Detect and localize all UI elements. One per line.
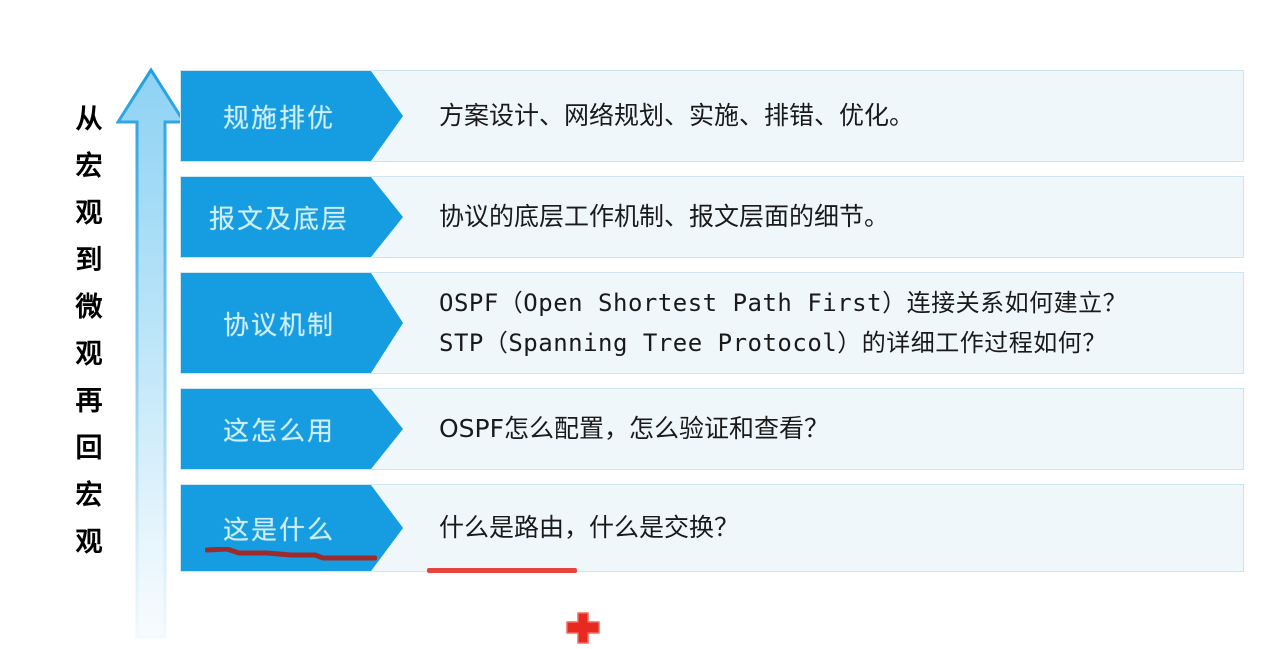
vertical-caption-char: 到 xyxy=(62,237,116,284)
level-description: OSPF（Open Shortest Path First）连接关系如何建立？ … xyxy=(403,273,1243,373)
vertical-caption-char: 观 xyxy=(62,331,116,378)
level-description-line: 方案设计、网络规划、实施、排错、优化。 xyxy=(439,96,1231,136)
level-description-line: OSPF怎么配置，怎么验证和查看？ xyxy=(439,409,1231,449)
vertical-caption-char: 回 xyxy=(62,425,116,472)
level-description-line: 什么是路由，什么是交换？ xyxy=(439,508,1231,548)
levels-list: 规施排优 方案设计、网络规划、实施、排错、优化。 报文及底层 协议的底层工作机制… xyxy=(180,70,1244,586)
level-row[interactable]: 这怎么用 OSPF怎么配置，怎么验证和查看？ xyxy=(180,388,1244,470)
vertical-caption-char: 宏 xyxy=(62,143,116,190)
vertical-caption-char: 微 xyxy=(62,284,116,331)
level-chevron[interactable]: 规施排优 xyxy=(181,71,403,161)
level-chevron[interactable]: 协议机制 xyxy=(181,273,403,373)
level-label: 规施排优 xyxy=(223,98,335,135)
level-row[interactable]: 报文及底层 协议的底层工作机制、报文层面的细节。 xyxy=(180,176,1244,258)
vertical-caption-char: 观 xyxy=(62,519,116,566)
red-cross-cursor-icon xyxy=(565,611,601,645)
level-label: 报文及底层 xyxy=(209,199,349,236)
level-chevron[interactable]: 报文及底层 xyxy=(181,177,403,257)
level-chevron[interactable]: 这怎么用 xyxy=(181,389,403,469)
level-chevron[interactable]: 这是什么 xyxy=(181,485,403,571)
level-description: 什么是路由，什么是交换？ xyxy=(403,485,1243,571)
vertical-caption: 从 宏 观 到 微 观 再 回 宏 观 xyxy=(62,96,116,566)
level-label: 协议机制 xyxy=(223,305,335,342)
level-description-line: 协议的底层工作机制、报文层面的细节。 xyxy=(439,197,1231,237)
vertical-caption-char: 宏 xyxy=(62,472,116,519)
level-description: 方案设计、网络规划、实施、排错、优化。 xyxy=(403,71,1243,161)
vertical-caption-char: 观 xyxy=(62,190,116,237)
upward-arrow-icon xyxy=(116,66,186,641)
left-axis: 从 宏 观 到 微 观 再 回 宏 观 xyxy=(0,0,180,649)
level-description: 协议的底层工作机制、报文层面的细节。 xyxy=(403,177,1243,257)
level-row[interactable]: 这是什么 什么是路由，什么是交换？ xyxy=(180,484,1244,572)
level-row[interactable]: 规施排优 方案设计、网络规划、实施、排错、优化。 xyxy=(180,70,1244,162)
level-label: 这怎么用 xyxy=(223,411,335,448)
red-squiggle-annotation xyxy=(205,547,377,561)
level-description: OSPF怎么配置，怎么验证和查看？ xyxy=(403,389,1243,469)
vertical-caption-char: 从 xyxy=(62,96,116,143)
level-label: 这是什么 xyxy=(223,510,335,547)
level-description-line: STP（Spanning Tree Protocol）的详细工作过程如何？ xyxy=(439,323,1231,363)
level-description-line: OSPF（Open Shortest Path First）连接关系如何建立？ xyxy=(439,283,1231,323)
vertical-caption-char: 再 xyxy=(62,378,116,425)
level-row[interactable]: 协议机制 OSPF（Open Shortest Path First）连接关系如… xyxy=(180,272,1244,374)
